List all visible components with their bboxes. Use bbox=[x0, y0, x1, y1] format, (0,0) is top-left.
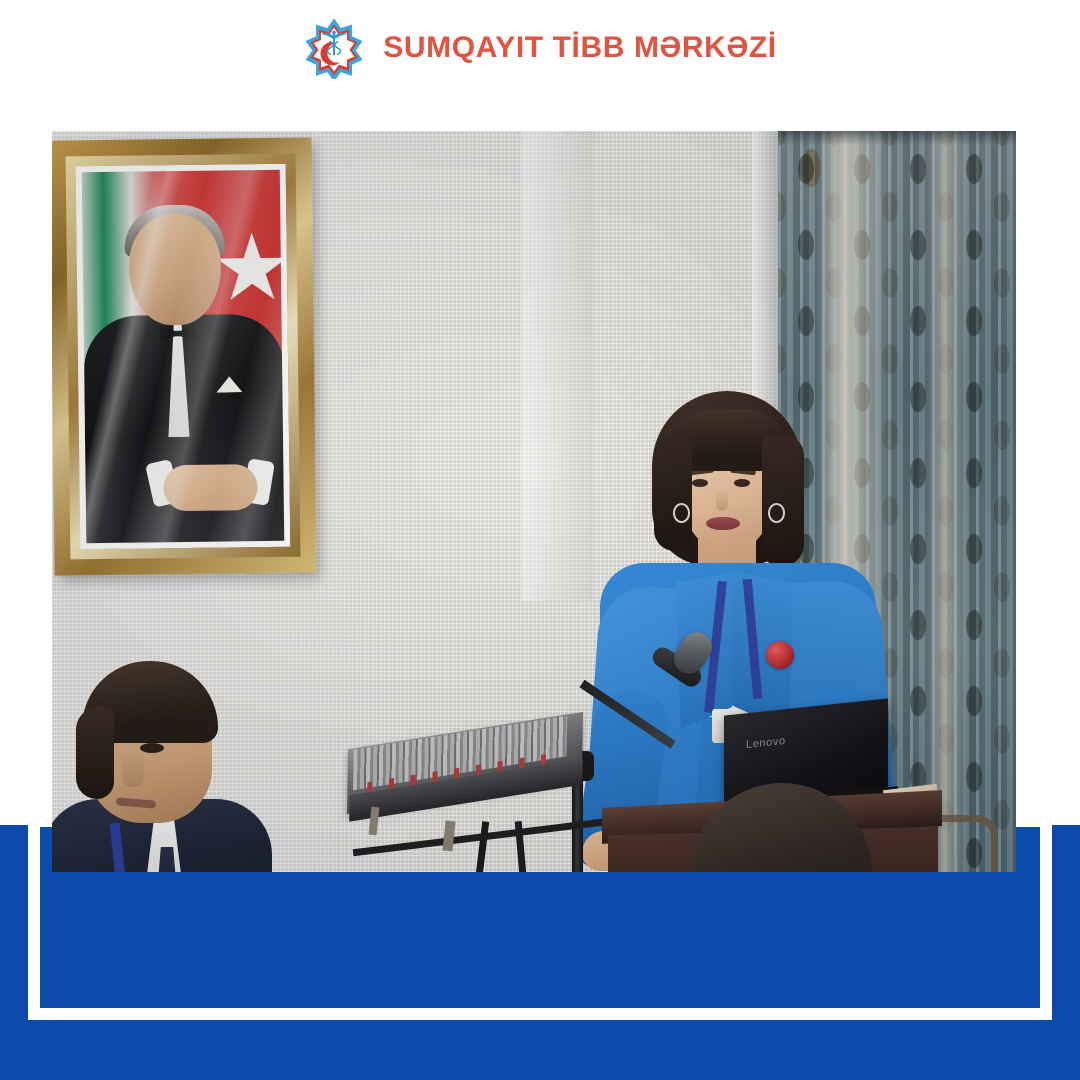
brand-name: SUMQAYIT TİBB MƏRKƏZİ bbox=[383, 33, 776, 63]
event-photo: Lenovo bbox=[52, 131, 1016, 872]
speaker-nose bbox=[716, 489, 728, 511]
poster-canvas: SUMQAYIT TİBB MƏRKƏZİ bbox=[0, 0, 1080, 1080]
brand-header: SUMQAYIT TİBB MƏRKƏZİ bbox=[0, 0, 1080, 96]
portrait-glass-glare bbox=[76, 164, 291, 550]
speaker-hair-side-right bbox=[762, 435, 804, 567]
speaker-hair-side-left bbox=[654, 435, 692, 551]
left-attendee-nose bbox=[122, 753, 144, 787]
speaker-floral-brooch bbox=[766, 641, 794, 669]
speaker-earring-right bbox=[768, 503, 785, 523]
speaker-eye-left bbox=[692, 479, 708, 487]
curtain-highlight-fold-secondary bbox=[924, 131, 968, 872]
speaker-eye-right bbox=[734, 479, 750, 487]
sumqayit-medical-center-logo-icon bbox=[303, 17, 365, 79]
speaker-lips bbox=[706, 517, 740, 530]
curtain-top-shadow bbox=[778, 131, 1016, 145]
left-attendee-eye-right bbox=[140, 743, 164, 753]
framed-portrait bbox=[52, 137, 317, 575]
portrait-image bbox=[76, 164, 291, 550]
left-attendee-hair-side bbox=[76, 707, 114, 799]
speaker-earring-left bbox=[673, 503, 690, 523]
